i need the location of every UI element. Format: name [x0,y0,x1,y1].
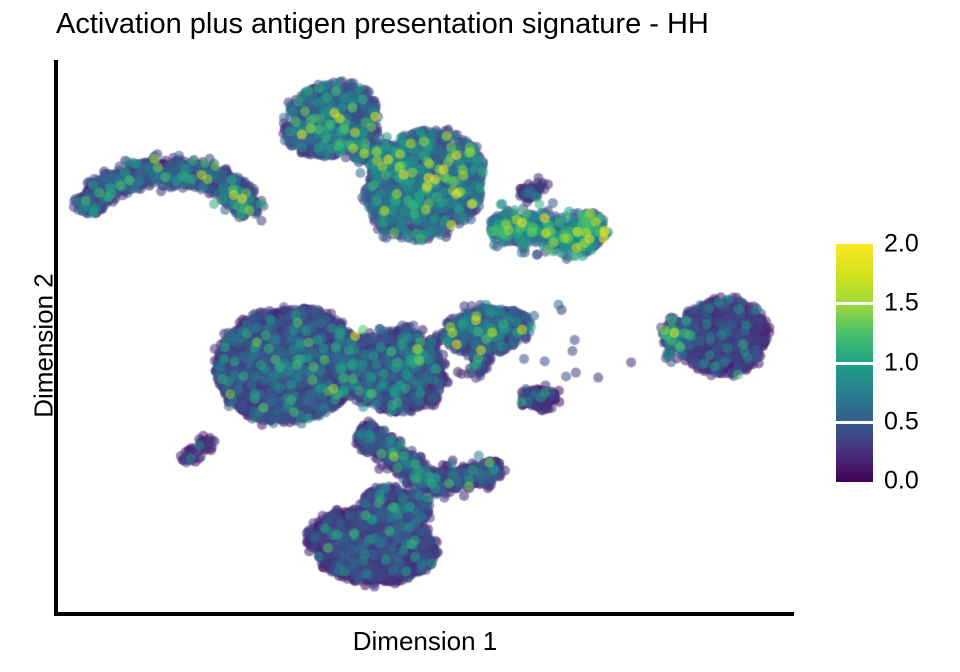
colorbar-tick-label: 0.0 [884,467,919,496]
colorbar-tick-label: 1.5 [884,289,919,318]
colorbar: 0.00.51.01.52.0 [836,244,960,484]
x-axis-line [54,612,794,616]
scatter-plot-canvas [56,58,794,614]
colorbar-tick-1.5 [836,302,873,305]
y-axis-label: Dimension 2 [29,206,60,486]
colorbar-tick-1 [836,362,873,365]
colorbar-tick-label: 0.5 [884,407,919,436]
figure-root: Activation plus antigen presentation sig… [0,0,960,672]
colorbar-tick-0.5 [836,421,873,424]
page-title: Activation plus antigen presentation sig… [56,8,709,41]
colorbar-tick-label: 1.0 [884,348,919,377]
colorbar-tick-label: 2.0 [884,230,919,259]
x-axis-label: Dimension 1 [56,626,794,657]
